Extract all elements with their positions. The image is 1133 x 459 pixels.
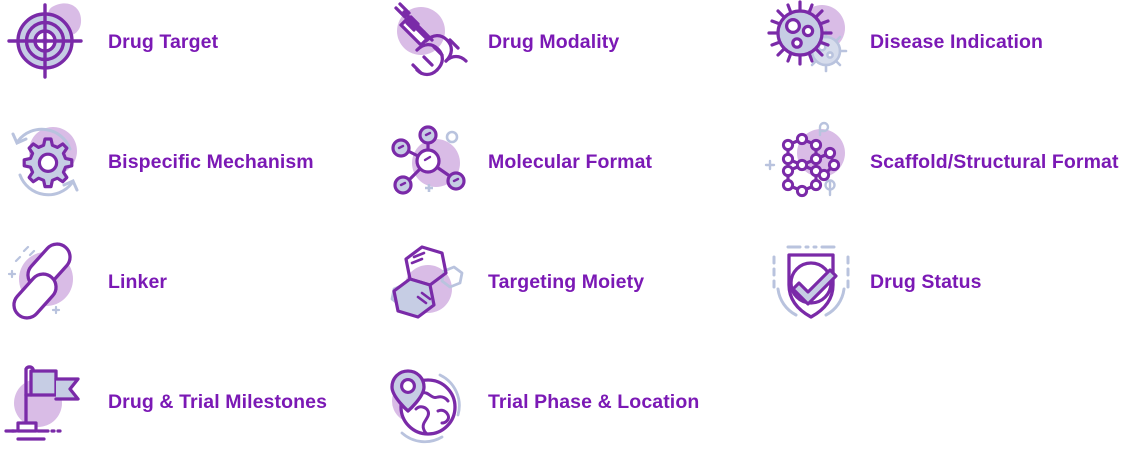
feature-item-drug-status[interactable]: Drug Status (762, 233, 982, 333)
feature-item-drug-modality[interactable]: Drug Modality (380, 0, 619, 93)
hexagon-rings-icon (380, 233, 480, 333)
feature-label: Drug Modality (480, 33, 619, 53)
globe-pin-icon (380, 353, 480, 453)
syringe-dna-icon (380, 0, 480, 93)
feature-label: Bispecific Mechanism (100, 153, 314, 173)
feature-label: Scaffold/Structural Format (862, 153, 1119, 173)
feature-item-drug-trial-milestones[interactable]: Drug & Trial Milestones (0, 353, 327, 453)
feature-label: Disease Indication (862, 33, 1043, 53)
feature-label: Targeting Moiety (480, 273, 644, 293)
feature-label: Drug Target (100, 33, 218, 53)
feature-item-targeting-moiety[interactable]: Targeting Moiety (380, 233, 644, 333)
feature-label: Linker (100, 273, 167, 293)
flag-icon (0, 353, 100, 453)
target-icon (0, 0, 100, 93)
virus-icon (762, 0, 862, 93)
feature-icon-grid: Drug Target (0, 0, 1133, 459)
feature-item-linker[interactable]: Linker (0, 233, 167, 333)
chain-link-icon (0, 233, 100, 333)
feature-item-disease-indication[interactable]: Disease Indication (762, 0, 1043, 93)
feature-item-scaffold-structural-format[interactable]: Scaffold/Structural Format (762, 113, 1119, 213)
scaffold-lattice-icon (762, 113, 862, 213)
feature-item-molecular-format[interactable]: Molecular Format (380, 113, 652, 213)
feature-label: Trial Phase & Location (480, 393, 699, 413)
feature-item-bispecific-mechanism[interactable]: Bispecific Mechanism (0, 113, 314, 213)
molecule-node-icon (380, 113, 480, 213)
feature-label: Drug Status (862, 273, 982, 293)
feature-label: Drug & Trial Milestones (100, 393, 327, 413)
gear-refresh-icon (0, 113, 100, 213)
feature-item-drug-target[interactable]: Drug Target (0, 0, 218, 93)
feature-label: Molecular Format (480, 153, 652, 173)
shield-check-icon (762, 233, 862, 333)
feature-item-trial-phase-location[interactable]: Trial Phase & Location (380, 353, 699, 453)
